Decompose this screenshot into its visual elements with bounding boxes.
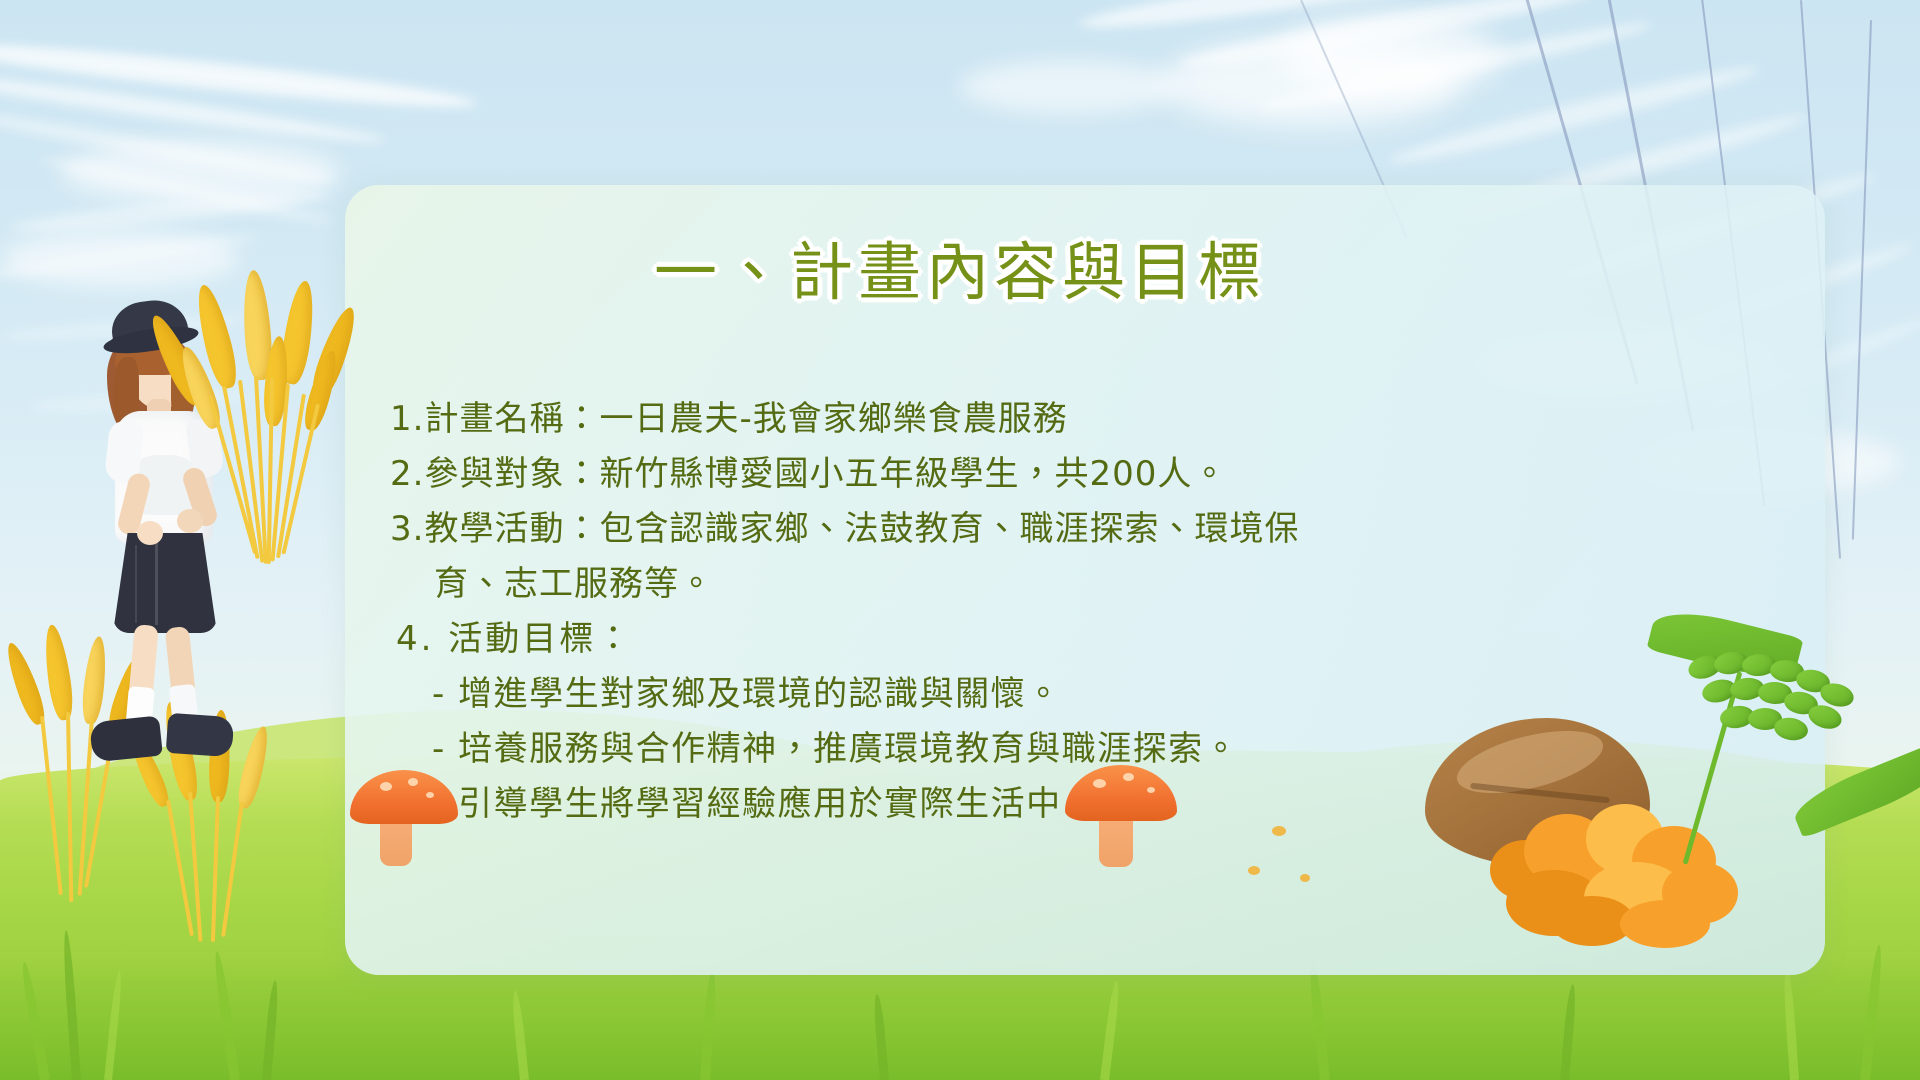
- cloud: [60, 140, 340, 204]
- sub-list-item: - 增進學生對家鄉及環境的認識與關懷。: [390, 667, 1390, 722]
- boot-left: [89, 715, 163, 762]
- sub-list-item: - 引導學生將學習經驗應用於實際生活中。: [390, 777, 1390, 832]
- mushroom-cap: [1065, 765, 1177, 821]
- mushroom-spot: [380, 782, 392, 791]
- wheat-bundle: [150, 270, 380, 570]
- seed: [1248, 866, 1260, 875]
- slide: 一、計畫內容與目標 1.計畫名稱：一日農夫-我會家鄉樂食農服務 2.參與對象：新…: [0, 0, 1920, 1080]
- boot-right: [166, 713, 235, 758]
- mushroom-spot: [1093, 779, 1106, 788]
- list-item-continuation: 育、志工服務等。: [390, 557, 1390, 612]
- green-wheat: [1680, 650, 1920, 880]
- skirt-fold-line: [135, 545, 137, 623]
- mushroom-spot: [408, 778, 418, 786]
- seed: [1300, 874, 1310, 882]
- content-list: 1.計畫名稱：一日農夫-我會家鄉樂食農服務 2.參與對象：新竹縣博愛國小五年級學…: [390, 392, 1390, 832]
- mushroom-cap: [350, 770, 458, 824]
- mushroom-spot: [1147, 787, 1155, 793]
- mushroom-left: [350, 760, 460, 870]
- grass-shade: [0, 960, 1920, 1080]
- sub-list-item: - 培養服務與合作精神，推廣環境教育與職涯探索。: [390, 722, 1390, 777]
- mushroom-spot: [1123, 773, 1134, 781]
- green-wheat-grain: [1772, 715, 1809, 743]
- list-item: 1.計畫名稱：一日農夫-我會家鄉樂食農服務: [390, 392, 1390, 447]
- mushroom-right: [1065, 755, 1180, 870]
- list-item: 4. 活動目標：: [390, 612, 1390, 667]
- cloud: [960, 60, 1180, 114]
- mushroom-spot: [426, 792, 434, 798]
- green-wheat-leaf: [1788, 741, 1920, 838]
- seed: [1272, 826, 1286, 836]
- list-item: 2.參與對象：新竹縣博愛國小五年級學生，共200人。: [390, 447, 1390, 502]
- list-item: 3.教學活動：包含認識家鄉、法鼓教育、職涯探索、環境保: [390, 502, 1390, 557]
- bush-petal: [1620, 900, 1710, 948]
